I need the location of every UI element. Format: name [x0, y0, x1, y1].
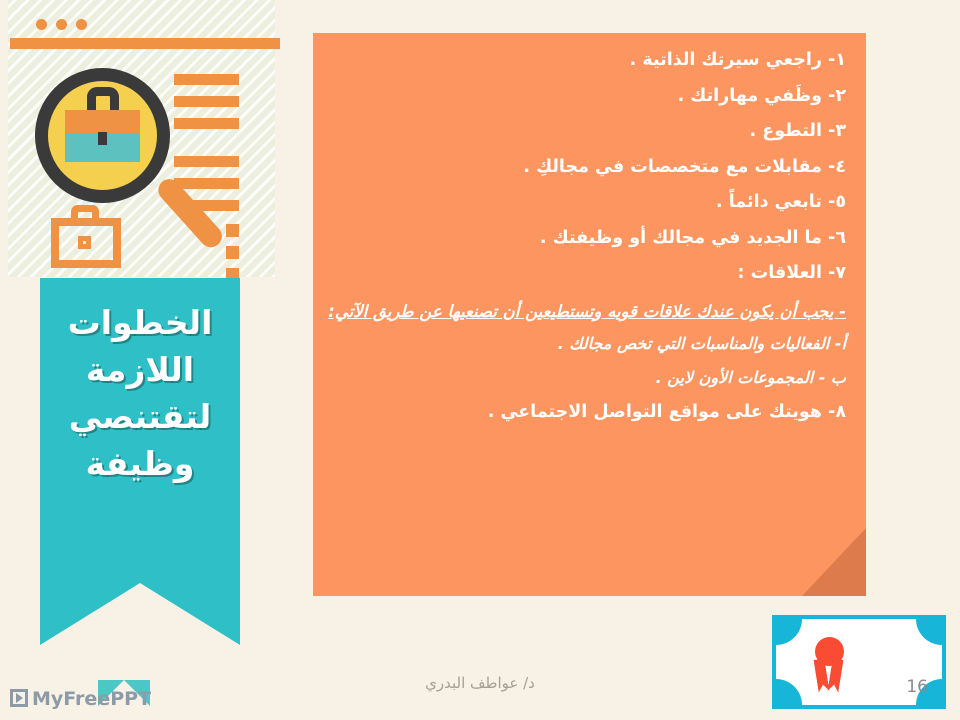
briefcase-lock-icon	[98, 132, 107, 145]
badge-corner-decoration	[776, 619, 802, 645]
text-line-bar	[174, 178, 239, 189]
page-number: 16	[906, 677, 928, 697]
slide-canvas: الخطوات اللازمة لتقتنصي وظيفة ١- راجعي س…	[0, 0, 960, 720]
illustration-panel	[8, 0, 275, 277]
list-item: ١- راجعي سيرتك الذاتية .	[327, 43, 852, 79]
text-line-bar	[174, 74, 239, 85]
text-line-bar	[174, 96, 239, 107]
content-card: ١- راجعي سيرتك الذاتية . ٢- وظَفي مهارات…	[313, 33, 866, 596]
list-item: ٦- ما الجديد في مجالك أو وظيفتك .	[327, 221, 852, 257]
window-dot-icon	[56, 19, 67, 30]
list-item: ٣- التطوع .	[327, 114, 852, 150]
text-dot-bar	[226, 224, 239, 237]
text-line-bar	[174, 156, 239, 167]
list-item: أ- الفعاليات والمناسبات التي تخص مجالك .	[327, 327, 852, 361]
header-bar-decoration	[10, 38, 280, 49]
window-dot-icon	[36, 19, 47, 30]
text-dot-bar	[226, 246, 239, 259]
list-item: ٨- هويتك على مواقع التواصل الاجتماعي .	[327, 395, 852, 431]
outline-briefcase-lock-icon	[78, 236, 91, 249]
steps-list: ١- راجعي سيرتك الذاتية . ٢- وظَفي مهارات…	[327, 43, 852, 430]
list-item: ٥- تابعي دائماً .	[327, 185, 852, 221]
title-ribbon: الخطوات اللازمة لتقتنصي وظيفة	[40, 278, 240, 658]
briefcase-flap-icon	[65, 110, 140, 133]
window-dot-icon	[76, 19, 87, 30]
play-button-icon	[10, 689, 28, 707]
list-item: ٢- وظَفي مهاراتك .	[327, 79, 852, 115]
slide-title: الخطوات اللازمة لتقتنصي وظيفة	[40, 300, 240, 487]
badge-corner-decoration	[916, 619, 942, 645]
list-item: ب - المجموعات الأون لاين .	[327, 361, 852, 395]
list-item: ٤- مقابلات مع متخصصات في مجالكِ .	[327, 150, 852, 186]
watermark: MyFreePPT	[0, 680, 150, 720]
list-item-highlighted: - يجب أن يكون عندك علاقات قويه وتستطيعين…	[327, 292, 852, 327]
ribbon-tail	[40, 583, 240, 645]
award-ribbon-icon	[812, 637, 846, 693]
certificate-badge: 16	[772, 615, 946, 709]
badge-corner-decoration	[776, 679, 802, 705]
list-item: ٧- العلاقات :	[327, 256, 852, 292]
text-line-bar	[174, 118, 239, 129]
text-line-bar	[183, 200, 239, 211]
watermark-label: MyFreePPT	[32, 688, 151, 710]
